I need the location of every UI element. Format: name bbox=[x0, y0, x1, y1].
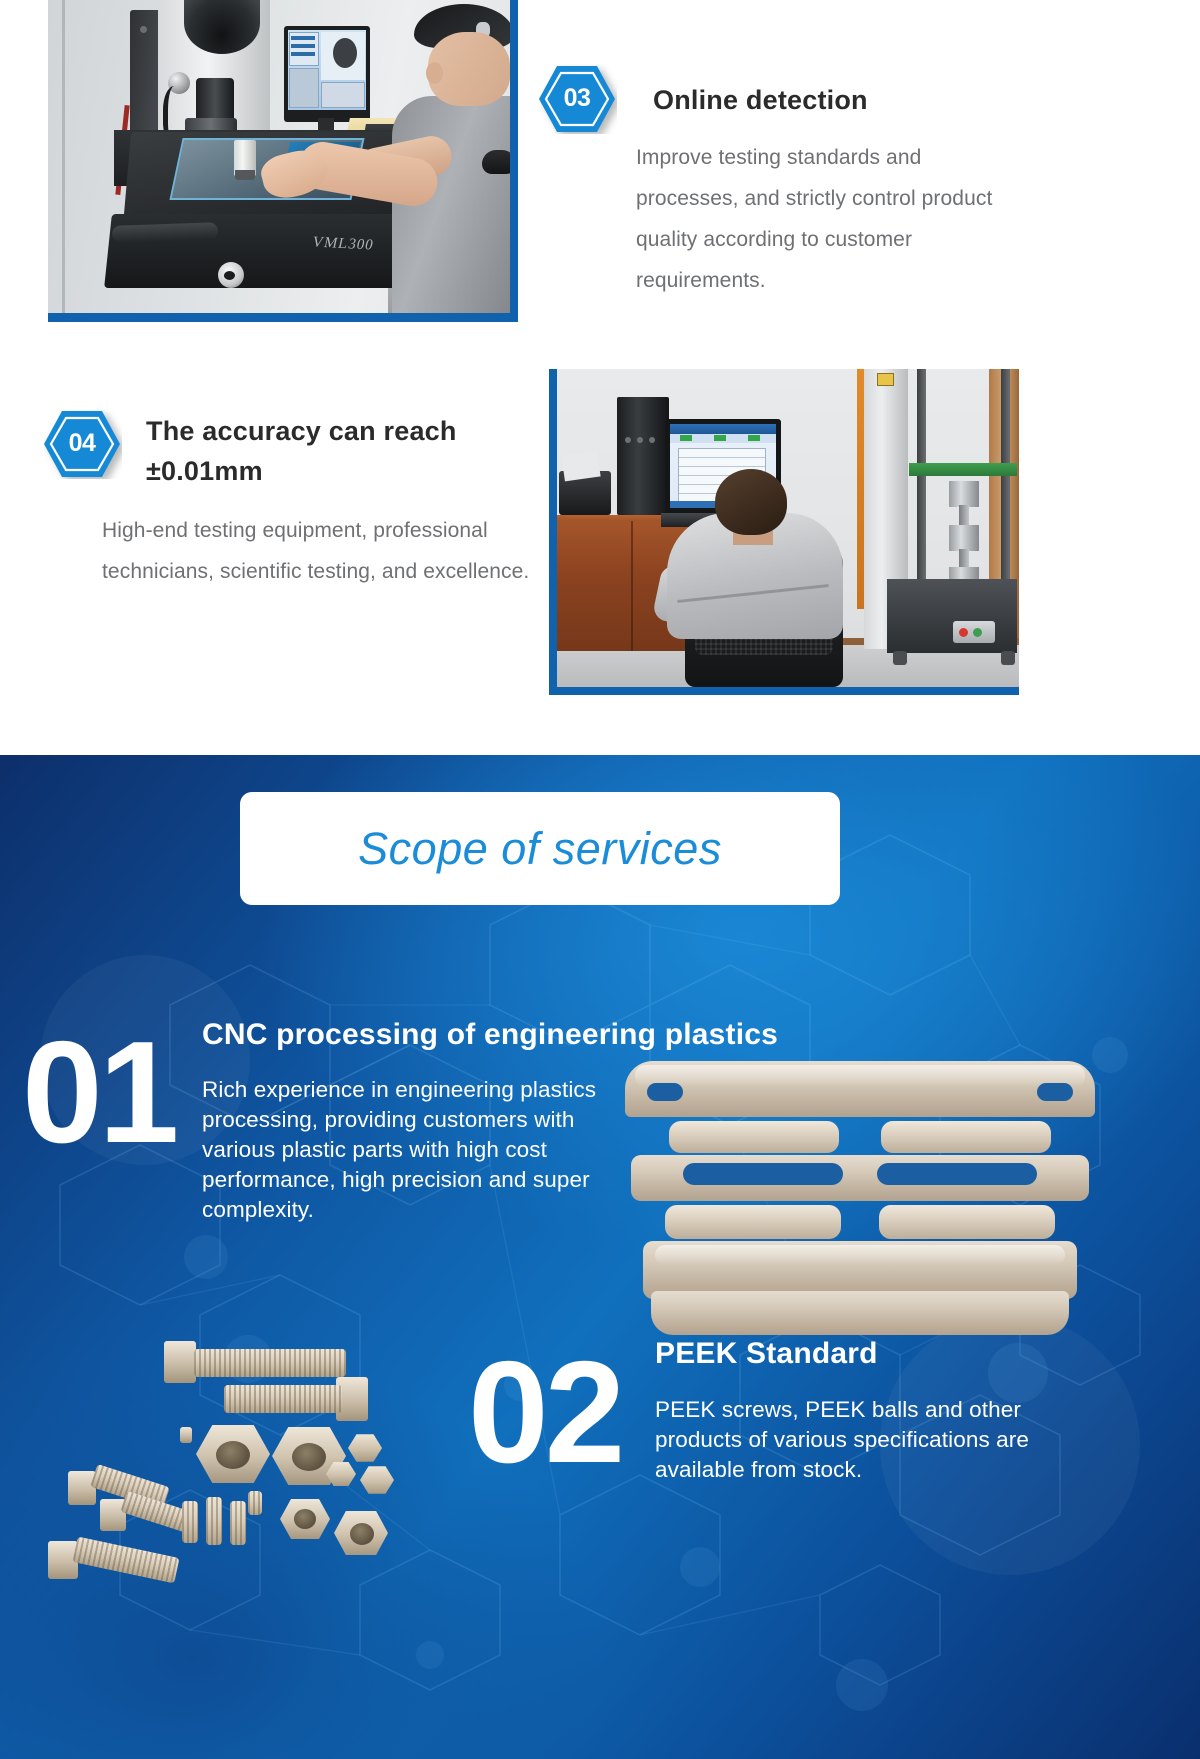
testing-lab-scene bbox=[557, 369, 1019, 687]
feature-badge-number: 03 bbox=[537, 64, 617, 134]
page-root: VML300 bbox=[0, 0, 1200, 1759]
service-number-01: 01 bbox=[22, 1020, 175, 1165]
online-detection-photo-frame: VML300 bbox=[48, 0, 518, 322]
peek-chain-part-image bbox=[625, 1055, 1095, 1345]
feature-badge-04: 04 bbox=[42, 409, 122, 479]
service-title-peek: PEEK Standard bbox=[655, 1337, 1175, 1371]
service-body-cnc: Rich experience in engineering plastics … bbox=[202, 1075, 632, 1225]
feature-body-accuracy: High-end testing equipment, professional… bbox=[102, 510, 532, 592]
service-body-peek: PEEK screws, PEEK balls and other produc… bbox=[655, 1395, 1075, 1485]
online-detection-photo: VML300 bbox=[48, 0, 510, 313]
feature-body-online-detection: Improve testing standards and processes,… bbox=[636, 137, 1016, 301]
service-number-02: 02 bbox=[468, 1340, 621, 1485]
features-section: VML300 bbox=[0, 0, 1200, 755]
feature-title-online-detection: Online detection bbox=[653, 80, 1113, 120]
service-title-cnc: CNC processing of engineering plastics bbox=[202, 1018, 962, 1052]
scope-title-card: Scope of services bbox=[240, 792, 840, 905]
feature-badge-number: 04 bbox=[42, 409, 122, 479]
testing-lab-photo bbox=[557, 369, 1019, 687]
machine-model-label: VML300 bbox=[310, 234, 375, 254]
peek-screws-image bbox=[30, 1285, 460, 1615]
measuring-machine-scene: VML300 bbox=[48, 0, 510, 313]
feature-badge-03: 03 bbox=[537, 64, 617, 134]
feature-title-accuracy: The accuracy can reach ±0.01mm bbox=[146, 411, 496, 491]
testing-lab-photo-frame bbox=[549, 369, 1019, 695]
scope-title-text: Scope of services bbox=[358, 823, 722, 875]
